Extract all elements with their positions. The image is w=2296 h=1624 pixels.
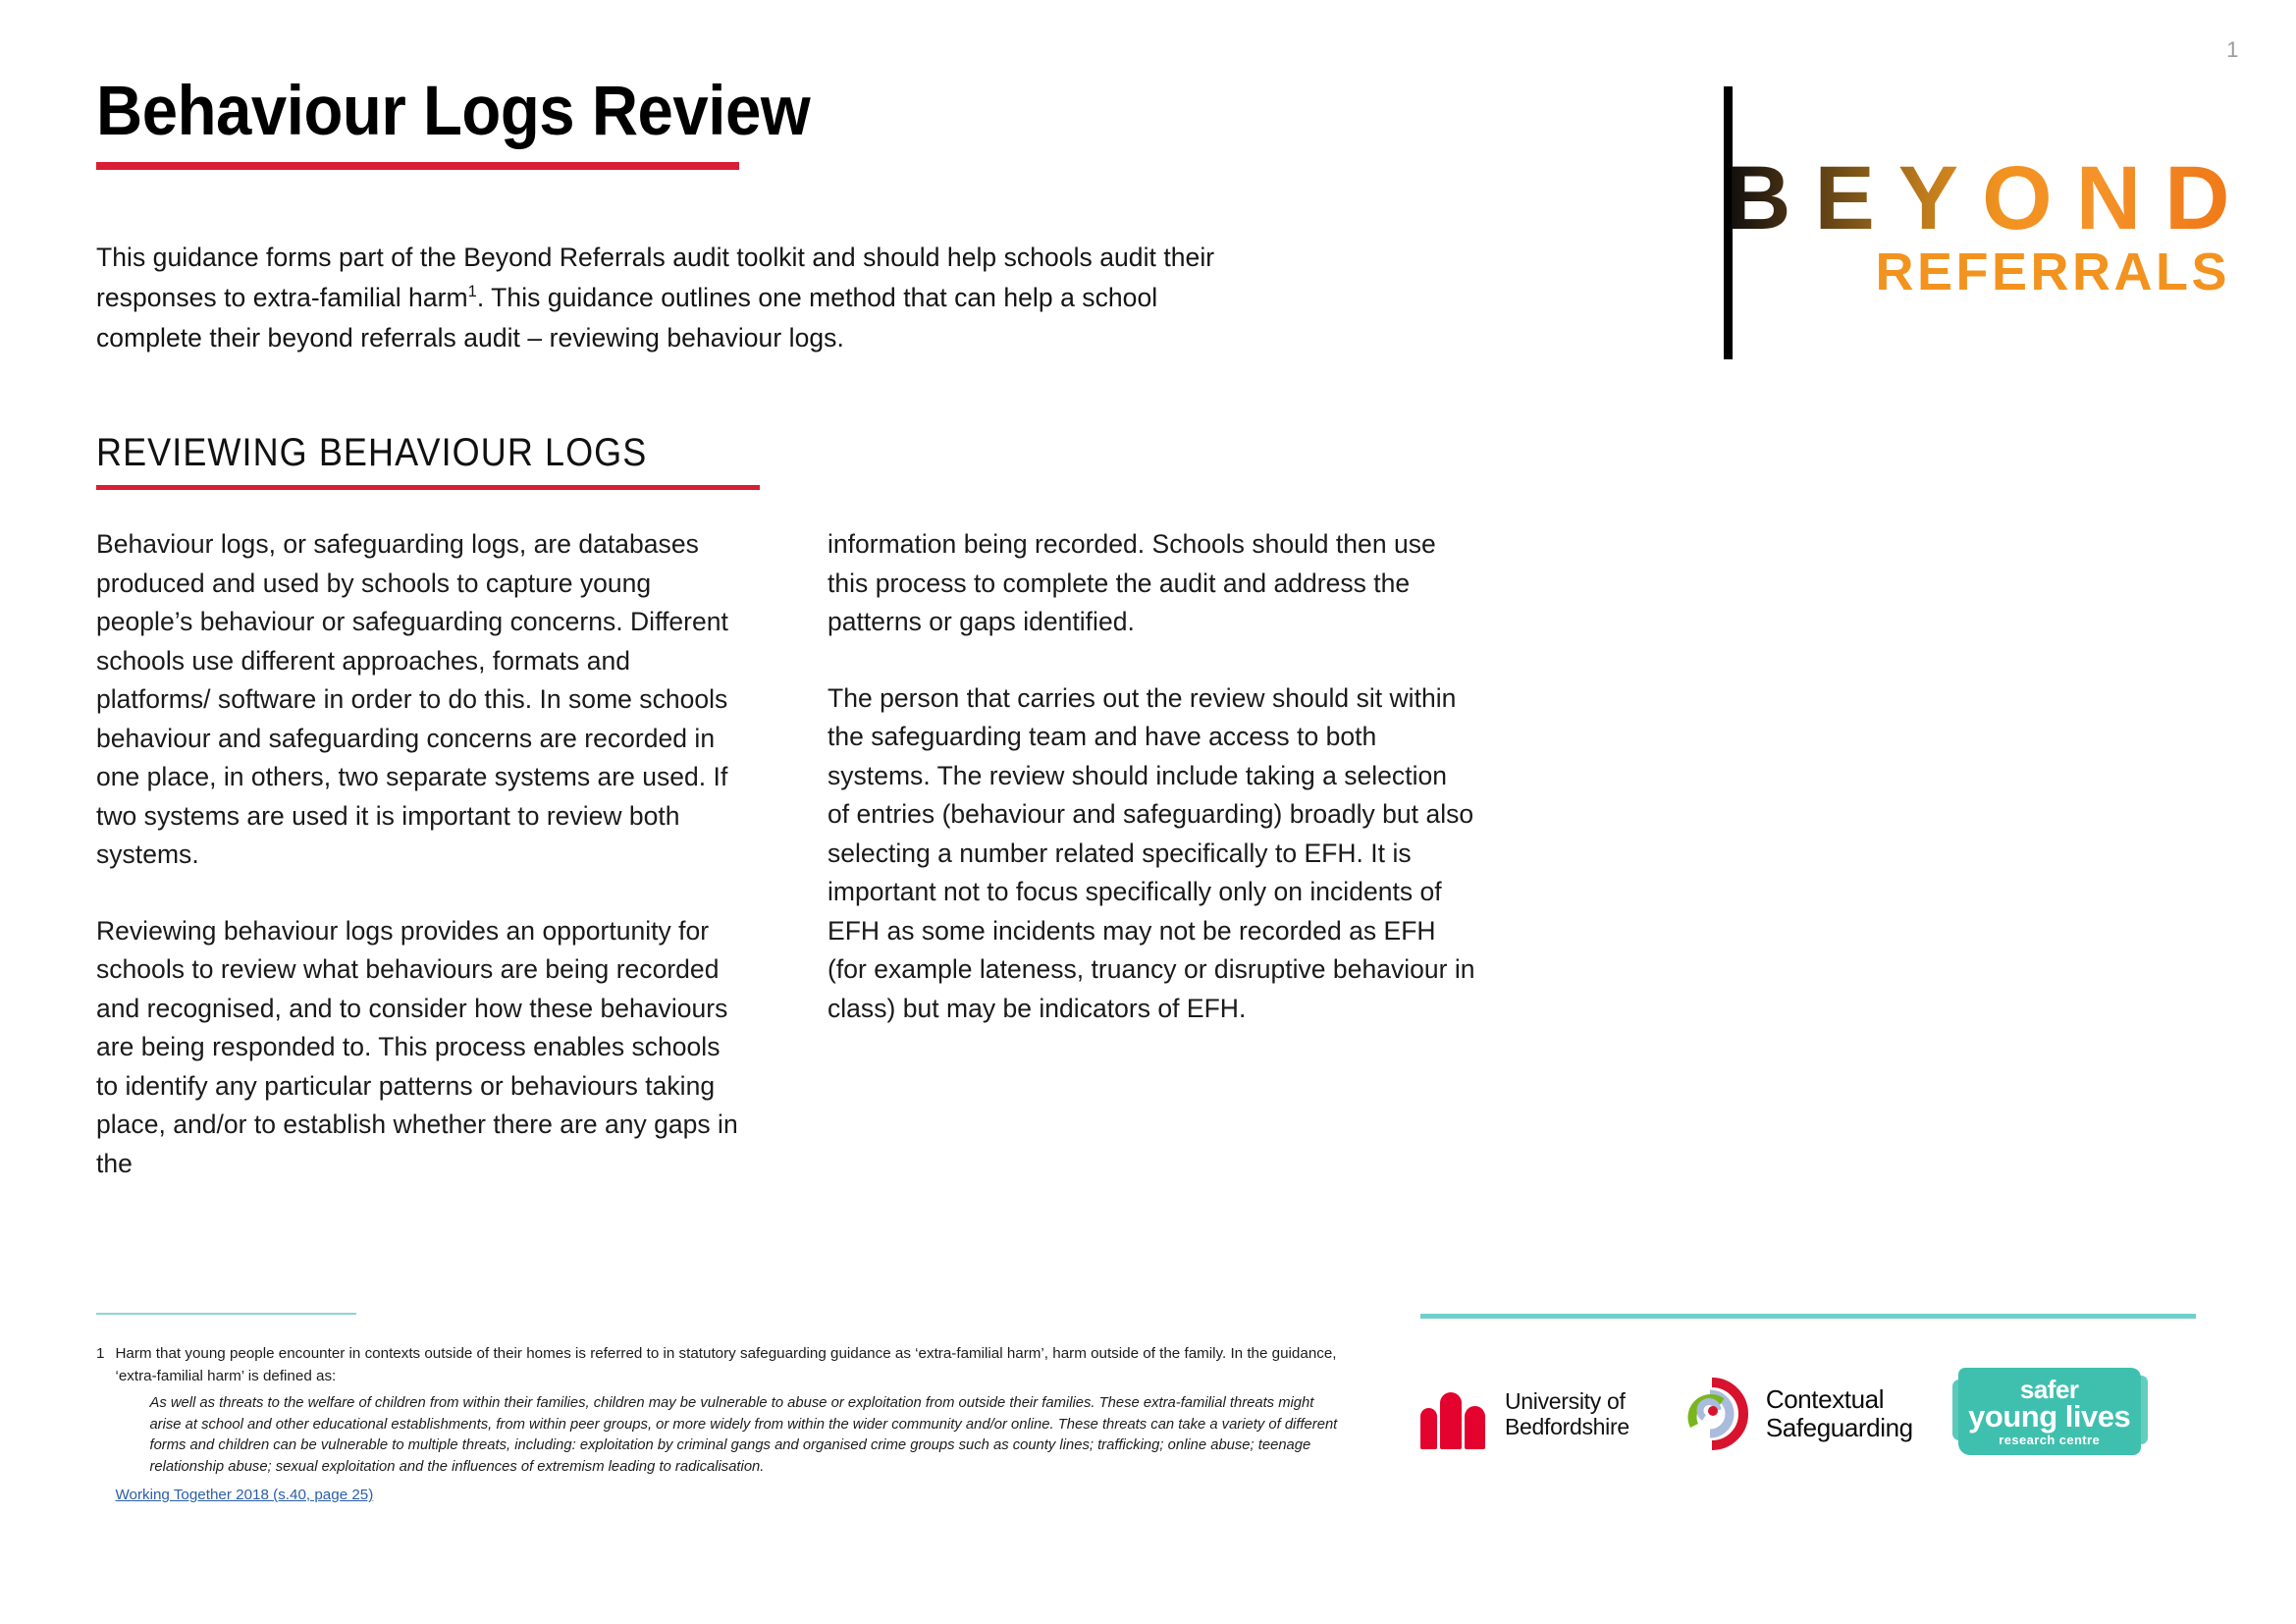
syl-line2: young lives (1968, 1402, 2130, 1432)
footnote-row: 1 Harm that young people encounter in co… (96, 1343, 1338, 1507)
footnote-source-link[interactable]: Working Together 2018 (s.40, page 25) (115, 1485, 373, 1507)
paragraph: The person that carries out the review s… (828, 679, 1475, 1029)
section-heading: REVIEWING BEHAVIOUR LOGS (96, 432, 715, 473)
paragraph: information being recorded. Schools shou… (828, 525, 1475, 642)
safer-young-lives-logo: safer young lives research centre (1956, 1362, 2143, 1465)
bedfordshire-wordmark: University of Bedfordshire (1505, 1388, 1629, 1439)
footnote-body: Harm that young people encounter in cont… (115, 1343, 1338, 1507)
footnote-reference-marker[interactable]: 1 (468, 283, 477, 300)
petal-shape (1440, 1392, 1462, 1449)
syl-line3: research centre (1999, 1432, 2100, 1449)
bedfordshire-petal-icon (1420, 1377, 1491, 1451)
contextual-safeguarding-line2: Safeguarding (1766, 1414, 1913, 1442)
page-title: Behaviour Logs Review (96, 77, 999, 146)
footer-logo-row: University of Bedfordshire Contextual Sa… (1420, 1347, 2206, 1480)
title-block: Behaviour Logs Review (96, 77, 1078, 170)
left-column: Behaviour logs, or safeguarding logs, ar… (96, 525, 744, 1183)
logo-beyond-wordmark: BEYOND (1726, 153, 2254, 244)
footnote-block: 1 Harm that young people encounter in co… (96, 1343, 1338, 1507)
paragraph: Reviewing behaviour logs provides an opp… (96, 912, 744, 1184)
beyond-referrals-logo: BEYOND REFERRALS (1724, 86, 2234, 359)
section-heading-block: REVIEWING BEHAVIOUR LOGS (96, 432, 783, 490)
footnote-marker: 1 (96, 1343, 104, 1507)
paragraph: Behaviour logs, or safeguarding logs, ar… (96, 525, 744, 875)
contextual-safeguarding-line1: Contextual (1766, 1385, 1913, 1414)
section-underline-rule (96, 485, 760, 490)
contextual-safeguarding-wordmark: Contextual Safeguarding (1766, 1385, 1913, 1442)
bedfordshire-line2: Bedfordshire (1505, 1414, 1629, 1439)
logo-referrals-wordmark: REFERRALS (1875, 245, 2230, 298)
bedfordshire-line1: University of (1505, 1388, 1629, 1414)
right-column: information being recorded. Schools shou… (828, 525, 1475, 1183)
safer-young-lives-wordmark: safer young lives research centre (1956, 1362, 2143, 1465)
title-underline-rule (96, 162, 739, 170)
footer-divider-rule (1420, 1314, 2196, 1319)
petal-shape (1420, 1408, 1437, 1449)
petal-shape (1465, 1406, 1485, 1449)
body-columns: Behaviour logs, or safeguarding logs, ar… (96, 525, 1475, 1183)
footnote-text: Harm that young people encounter in cont… (115, 1345, 1336, 1384)
university-of-bedfordshire-logo: University of Bedfordshire (1420, 1377, 1629, 1451)
contextual-safeguarding-logo: Contextual Safeguarding (1673, 1375, 1913, 1453)
footnote-quote: As well as threats to the welfare of chi… (149, 1393, 1338, 1478)
document-page: 1 Behaviour Logs Review This guidance fo… (0, 0, 2296, 1624)
footnote-divider-rule (96, 1313, 356, 1315)
page-number: 1 (2226, 37, 2239, 63)
contextual-safeguarding-arcs-icon (1673, 1375, 1751, 1453)
footnote-quote-text: As well as threats to the welfare of chi… (149, 1395, 1337, 1475)
intro-paragraph: This guidance forms part of the Beyond R… (96, 238, 1264, 358)
